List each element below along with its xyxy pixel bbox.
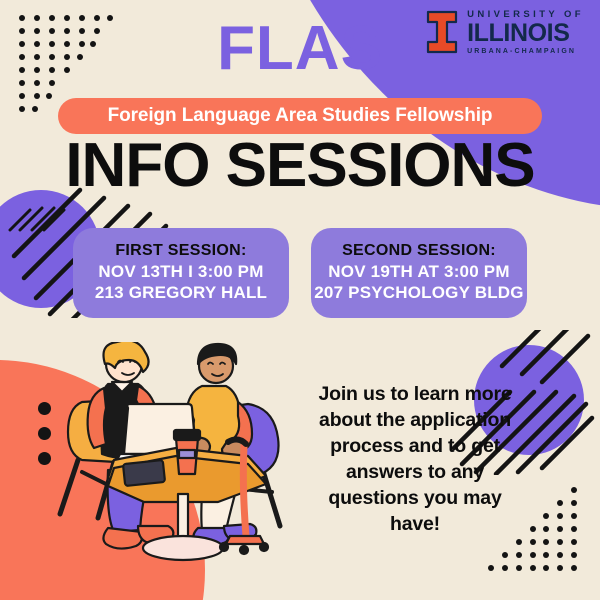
subtitle-pill: Foreign Language Area Studies Fellowship <box>58 98 542 134</box>
session-datetime: NOV 13TH I 3:00 PM <box>98 262 263 283</box>
session-location: 213 GREGORY HALL <box>95 283 267 304</box>
subtitle-text: Foreign Language Area Studies Fellowship <box>108 105 493 127</box>
session-title: FIRST SESSION: <box>115 242 246 260</box>
session-card-first: FIRST SESSION: NOV 13TH I 3:00 PM 213 GR… <box>73 228 289 318</box>
page-title-acronym: FLAS <box>0 18 600 80</box>
page-title: INFO SESSIONS <box>0 133 600 198</box>
session-datetime: NOV 19TH AT 3:00 PM <box>328 262 509 283</box>
session-title: SECOND SESSION: <box>342 242 496 260</box>
session-card-second: SECOND SESSION: NOV 19TH AT 3:00 PM 207 … <box>311 228 527 318</box>
session-card-list: FIRST SESSION: NOV 13TH I 3:00 PM 213 GR… <box>0 228 600 318</box>
poster-canvas: UNIVERSITY OF ILLINOIS URBANA-CHAMPAIGN … <box>0 0 600 600</box>
three-dots-icon <box>38 402 51 465</box>
session-location: 207 PSYCHOLOGY BLDG <box>314 283 523 304</box>
two-people-at-table-illustration <box>52 342 314 572</box>
description-text: Join us to learn more about the applicat… <box>306 382 524 538</box>
